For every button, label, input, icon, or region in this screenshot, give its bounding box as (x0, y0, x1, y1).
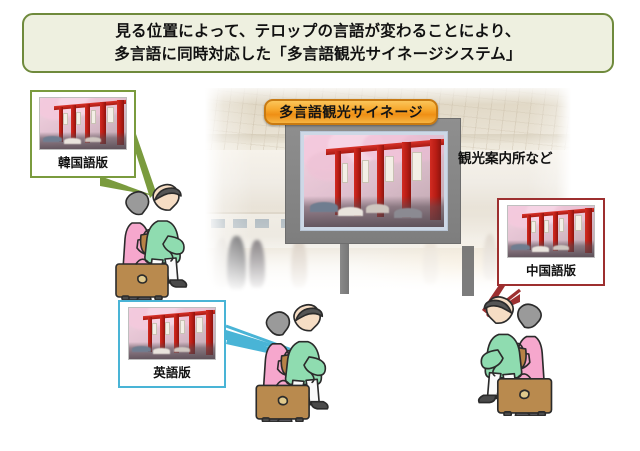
slide-title-line-2: 多言語に同時対応した「多言語観光サイネージシステム」 (114, 43, 521, 66)
gate-lantern (412, 152, 422, 181)
gate-lantern (342, 163, 348, 183)
slide-canvas: 見る位置によって、テロップの言語が変わることにより、 多言語に同時対応した「多言… (0, 0, 640, 451)
callout-english[interactable]: 英語版 (118, 300, 226, 388)
signage-support-pole (340, 244, 349, 294)
crowd-umbrella (338, 207, 363, 216)
callout-english-label: 英語版 (153, 362, 191, 381)
signage-banner: 多言語観光サイネージ (264, 99, 438, 125)
site-note-label: 観光案内所など (458, 147, 553, 167)
slide-title-line-1: 見る位置によって、テロップの言語が変わることにより、 (115, 20, 520, 43)
crowd-umbrella (366, 204, 390, 213)
callout-korean-thumbnail (39, 97, 127, 150)
signage-screen (300, 131, 448, 231)
gate-beam (326, 139, 444, 156)
signage-banner-label: 多言語観光サイネージ (279, 102, 423, 122)
gate-lantern (362, 160, 369, 183)
traveler-group-left (108, 176, 216, 300)
callout-chinese-label: 中国語版 (526, 260, 576, 279)
traveler-group-center (248, 296, 358, 422)
signage-display (285, 118, 461, 244)
gate-lantern (385, 156, 393, 182)
callout-english-thumbnail (128, 307, 216, 360)
traveler-group-right (448, 288, 560, 416)
callout-korean-label: 韓国語版 (58, 152, 108, 171)
display-sakura-image (304, 135, 444, 227)
callout-chinese-thumbnail (507, 205, 595, 258)
callout-korean[interactable]: 韓国語版 (30, 90, 136, 178)
slide-title-box: 見る位置によって、テロップの言語が変わることにより、 多言語に同時対応した「多言… (22, 13, 614, 73)
crowd-umbrella (394, 208, 422, 218)
crowd-umbrella (310, 202, 338, 212)
callout-chinese[interactable]: 中国語版 (497, 198, 605, 286)
